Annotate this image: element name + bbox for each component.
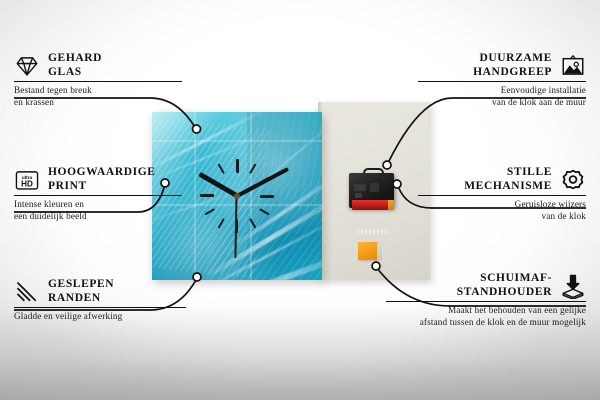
callout-title: HOOGWAARDIGE PRINT <box>48 166 156 193</box>
callout-geslepen-randen[interactable]: GESLEPEN RANDEN Gladde en veilige afwerk… <box>14 278 186 323</box>
callout-description: Bestand tegen breuk en krassen <box>14 85 182 108</box>
callout-dot-gehard-glas <box>193 125 201 133</box>
callout-description: Maakt het behouden van een gelijke afsta… <box>386 305 586 328</box>
callout-title-row: STILLE MECHANISME <box>418 166 586 193</box>
callout-description: Intense kleuren en een duidelijk beeld <box>14 199 182 222</box>
callout-description: Eenvoudige installatie van de klok aan d… <box>418 85 586 108</box>
callout-hoogwaardige-print[interactable]: ultra HD HOOGWAARDIGE PRINT Intense kleu… <box>14 166 182 222</box>
callout-title-row: GESLEPEN RANDEN <box>14 278 186 305</box>
diamond-icon <box>14 53 40 79</box>
svg-text:HD: HD <box>21 179 33 188</box>
callout-title: STILLE MECHANISME <box>464 166 552 193</box>
callout-dot-geslepen-randen <box>193 273 201 281</box>
callout-dot-schuimafstandhouder <box>372 262 380 270</box>
picture-frame-icon <box>560 53 586 79</box>
gear-icon <box>560 167 586 193</box>
callout-dot-duurzame-handgreep <box>383 161 391 169</box>
callout-title-row: GEHARD GLAS <box>14 52 182 79</box>
callout-title-row: ultra HD HOOGWAARDIGE PRINT <box>14 166 182 193</box>
callout-schuimafstandhouder[interactable]: SCHUIMAF- STANDHOUDER Maakt het behouden… <box>386 272 586 328</box>
callout-rule <box>14 307 186 308</box>
callout-title-row: SCHUIMAF- STANDHOUDER <box>386 272 586 299</box>
infographic-canvas: GEHARD GLAS Bestand tegen breuk en krass… <box>0 0 600 400</box>
callout-title-row: DUURZAME HANDGREEP <box>418 52 586 79</box>
callout-title: GEHARD GLAS <box>48 52 102 79</box>
bevel-edges-icon <box>14 279 40 305</box>
callout-dot-stille-mechanisme <box>393 180 401 188</box>
callout-description: Geruisloze wijzers van de klok <box>418 199 586 222</box>
callout-rule <box>14 81 182 82</box>
callout-duurzame-handgreep[interactable]: DUURZAME HANDGREEP Eenvoudige installati… <box>418 52 586 108</box>
callout-rule <box>418 81 586 82</box>
callout-rule <box>386 301 586 302</box>
ultra-hd-icon: ultra HD <box>14 167 40 193</box>
callout-title: DUURZAME HANDGREEP <box>473 52 552 79</box>
callout-title: GESLEPEN RANDEN <box>48 278 114 305</box>
callout-gehard-glas[interactable]: GEHARD GLAS Bestand tegen breuk en krass… <box>14 52 182 108</box>
callout-stille-mechanisme[interactable]: STILLE MECHANISME Geruisloze wijzers van… <box>418 166 586 222</box>
callout-rule <box>418 195 586 196</box>
foam-spacer-icon <box>560 273 586 299</box>
callout-rule <box>14 195 182 196</box>
callout-title: SCHUIMAF- STANDHOUDER <box>457 272 552 299</box>
callout-description: Gladde en veilige afwerking <box>14 311 186 323</box>
